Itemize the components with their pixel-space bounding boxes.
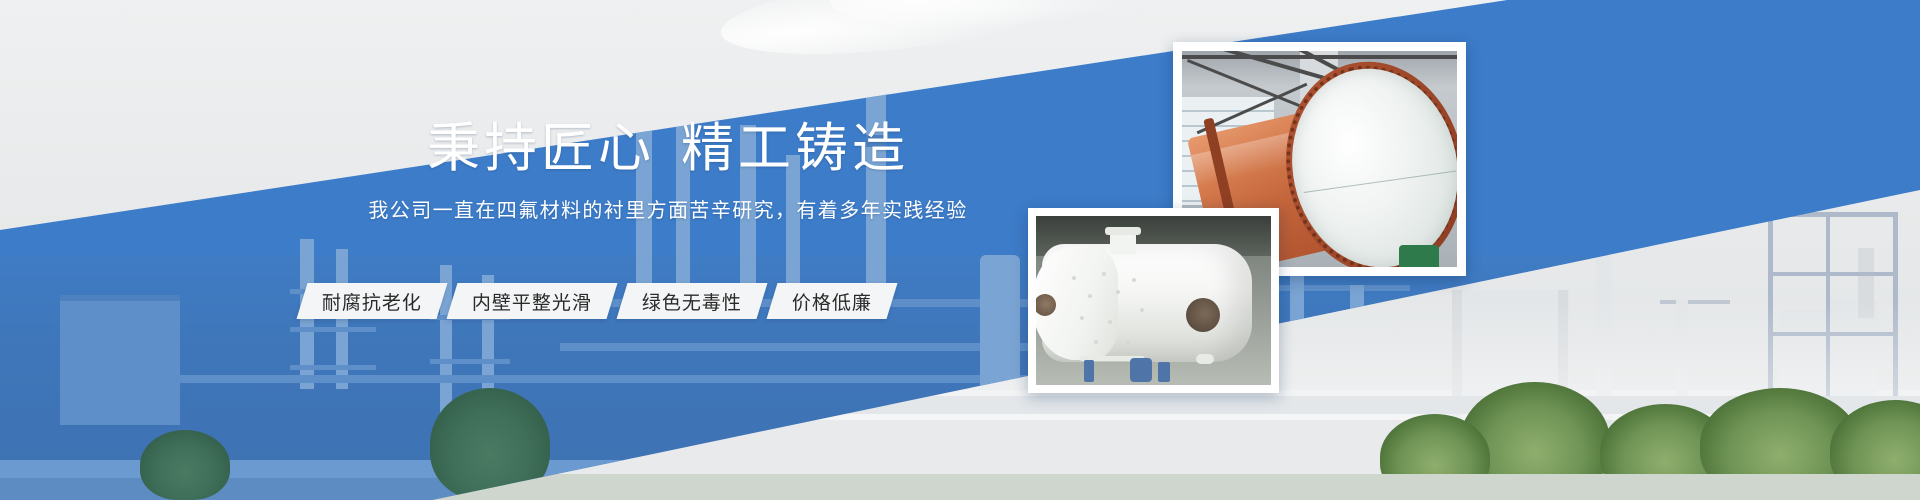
headline-part-2: 精工铸造 [681, 119, 909, 178]
blue-tree [1240, 408, 1360, 500]
feature-tag-label: 绿色无毒性 [642, 288, 742, 315]
headline-part-1: 秉持匠心 [427, 119, 655, 178]
blue-diagonal-overlay [0, 0, 1920, 500]
feature-tag-list: 耐腐抗老化 内壁平整光滑 绿色无毒性 价格低廉 [302, 283, 892, 319]
vessel-outlet [1196, 354, 1214, 364]
vessel-stud [1080, 316, 1084, 320]
vessel-stud [1108, 320, 1112, 324]
feature-tag-0[interactable]: 耐腐抗老化 [296, 283, 447, 319]
blue-stack-cap [634, 0, 654, 11]
product-photo-white-vessel[interactable] [1028, 208, 1279, 393]
blue-stack-band [866, 75, 886, 91]
tank-green-fitting [1399, 245, 1439, 267]
feature-tag-label: 价格低廉 [792, 288, 872, 315]
vessel-stud [1140, 308, 1144, 312]
hero-copy: 秉持匠心精工铸造 我公司一直在四氟材料的衬里方面苦辛研究，有着多年实践经验 [308, 118, 1028, 225]
vessel-support-leg [1130, 358, 1152, 382]
blue-tree [980, 380, 1130, 500]
feature-tag-1[interactable]: 内壁平整光滑 [447, 283, 618, 319]
vessel-stud [1132, 278, 1136, 282]
product-photo-white-vessel-image [1036, 216, 1271, 385]
feature-tag-3[interactable]: 价格低廉 [767, 283, 898, 319]
vessel-stud [1072, 276, 1076, 280]
blue-diagonal-shape [0, 0, 1920, 500]
vessel-stud [1126, 340, 1130, 344]
crane-rail [1182, 55, 1457, 59]
hero-banner: 秉持匠心精工铸造 我公司一直在四氟材料的衬里方面苦辛研究，有着多年实践经验 耐腐… [0, 0, 1920, 500]
feature-tag-label: 耐腐抗老化 [322, 288, 422, 315]
vessel-support-leg [1158, 362, 1170, 382]
vessel-stud [1102, 272, 1106, 276]
page-title: 秉持匠心精工铸造 [308, 118, 1028, 181]
vessel-stud [1094, 340, 1098, 344]
feature-tag-2[interactable]: 绿色无毒性 [617, 283, 768, 319]
vessel-nozzle-right [1186, 298, 1220, 332]
hero-subtitle: 我公司一直在四氟材料的衬里方面苦辛研究，有着多年实践经验 [308, 197, 1028, 225]
vessel-stud [1116, 290, 1120, 294]
vessel-stud [1088, 294, 1092, 298]
vessel-support-leg [1084, 360, 1094, 382]
vessel-manhole-neck [1110, 232, 1136, 254]
blue-tree [1090, 400, 1220, 500]
feature-tag-label: 内壁平整光滑 [472, 288, 592, 315]
